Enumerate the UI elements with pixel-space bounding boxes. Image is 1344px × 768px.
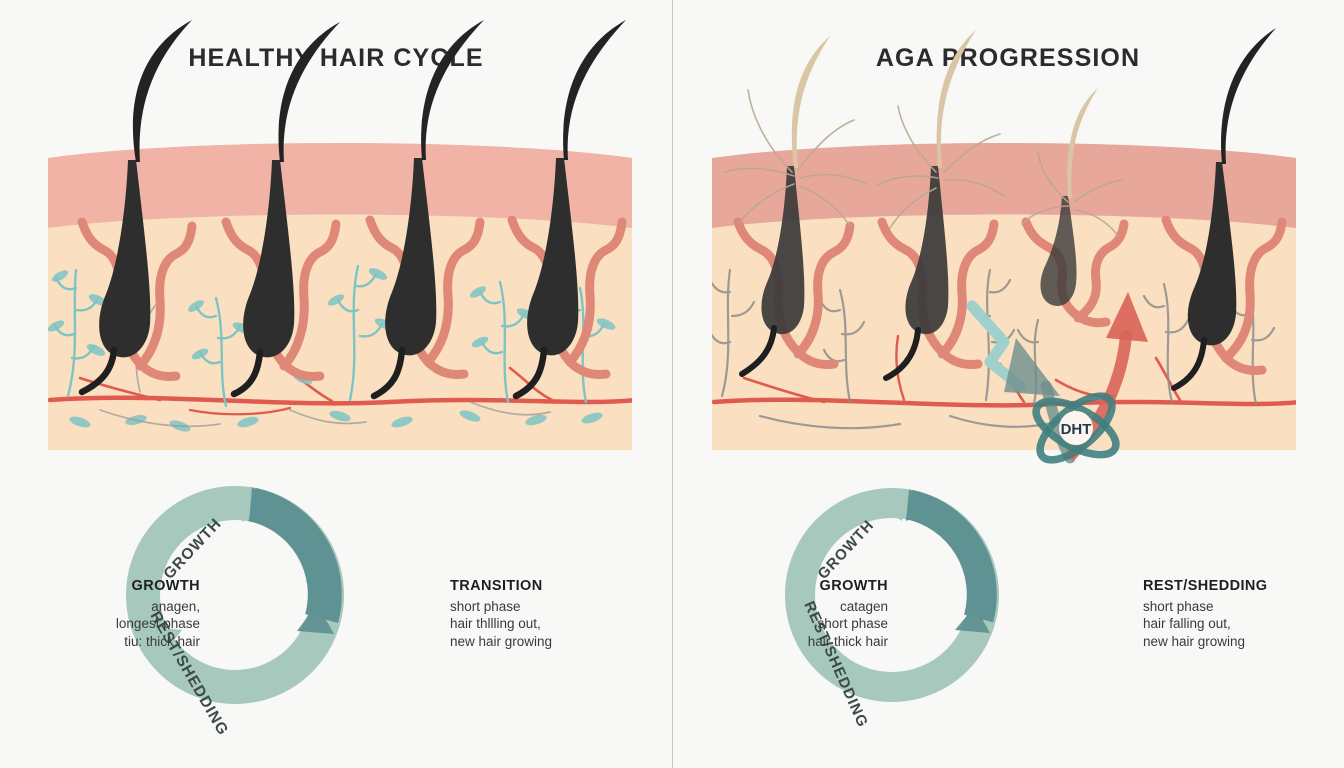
legend-line: new hair growing <box>1143 634 1245 649</box>
legend-heading: GROWTH <box>0 578 200 596</box>
legend-heading: REST/SHEDDING <box>1143 578 1343 596</box>
legend-line: short phase <box>1143 599 1214 614</box>
diagram-canvas: HEALTHY HAIR CYCLE <box>0 0 1344 768</box>
dht-molecule-label: DHT <box>1061 421 1092 438</box>
legend-heading: TRANSITION <box>450 578 665 596</box>
legend-heading: GROWTH <box>676 578 888 596</box>
legend-line: longest phase <box>116 616 200 631</box>
panel-aga-progression: AGA PROGRESSION <box>672 0 1344 768</box>
legend-growth-aga: GROWTH catagen short phase hair thick ha… <box>676 578 888 650</box>
legend-line: short phase <box>817 616 888 631</box>
legend-line: short phase <box>450 599 521 614</box>
legend-growth-healthy: GROWTH anagen, longest phase tiu: thick … <box>0 578 200 650</box>
donut-segment-transition <box>252 505 325 619</box>
legend-line: anagen, <box>151 599 200 614</box>
skin-cross-section-healthy <box>40 110 640 455</box>
legend-line: hair thllling out, <box>450 616 541 631</box>
legend-line: catagen <box>840 599 888 614</box>
hair-shafts-terminal <box>133 20 626 162</box>
donut-segment-rest <box>909 505 982 619</box>
skin-cross-section-aga: DHT <box>704 110 1304 455</box>
panel-title-healthy: HEALTHY HAIR CYCLE <box>0 44 672 73</box>
legend-transition-healthy: TRANSITION short phase hair thllling out… <box>450 578 665 650</box>
legend-line: tiu: thick hair <box>124 634 200 649</box>
panel-healthy-hair-cycle: HEALTHY HAIR CYCLE <box>0 0 672 768</box>
legend-line: hair thick hair <box>808 634 888 649</box>
legend-line: hair falling out, <box>1143 616 1231 631</box>
legend-rest-shedding-aga: REST/SHEDDING short phase hair falling o… <box>1143 578 1343 650</box>
legend-line: new hair growing <box>450 634 552 649</box>
panel-divider <box>672 0 673 768</box>
